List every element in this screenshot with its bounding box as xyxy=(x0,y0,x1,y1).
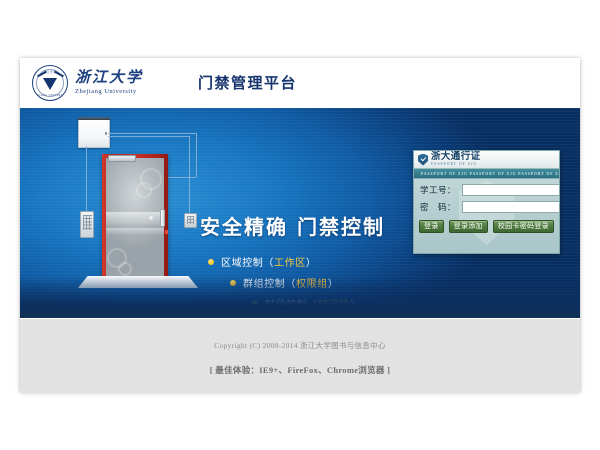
wire-controller-right-2 xyxy=(108,136,189,137)
feature-suffix: ） xyxy=(306,254,317,269)
seal-arc-bottom-text: ZHEJIANG UNIVERSITY xyxy=(32,94,68,97)
gear-decoration-4 xyxy=(118,262,132,276)
card-reader-keys xyxy=(187,216,194,224)
login-panel-title-en: PASSPORT OF ZJU xyxy=(431,163,481,167)
door-handle-icon xyxy=(160,209,165,227)
browser-support-note: [ 最佳体验：IE9+、FireFox、Chrome浏览器 ] xyxy=(20,364,580,376)
campus-card-login-button[interactable]: 校园卡密码登录 xyxy=(493,220,554,233)
door-lock-led xyxy=(165,230,168,234)
university-name-cn: 浙江大学 xyxy=(75,71,143,87)
wire-to-doorlock xyxy=(168,177,196,178)
wire-down-to-doorlock xyxy=(196,133,197,177)
copyright-text: Copyright (C) 2008-2014 浙江大学图书与信息中心 xyxy=(20,340,580,351)
form-row-userid: 学工号： xyxy=(420,184,553,196)
gear-decoration-2 xyxy=(136,182,152,198)
university-name-en: Zhejiang University xyxy=(75,88,143,95)
bullet-dot-icon xyxy=(208,259,214,265)
keypad-reader-icon xyxy=(80,211,94,238)
login-button-row: 登录 登录添加 校园卡密码登录 xyxy=(420,220,553,233)
userid-input[interactable] xyxy=(462,184,560,196)
seal-wing-left xyxy=(37,71,47,77)
banner-headline: 安全精确 门禁控制 xyxy=(200,211,385,240)
login-panel: 浙大通行证 PASSPORT OF ZJU PASSPORT OF ZJU PA… xyxy=(413,150,560,254)
login-panel-title-cn: 浙大通行证 xyxy=(431,152,481,162)
door-panel xyxy=(106,158,164,280)
university-name: 浙江大学 Zhejiang University xyxy=(75,71,143,95)
password-input[interactable] xyxy=(462,201,560,213)
login-form: 学工号： 密 码： 登录 登录添加 校园卡密码登录 xyxy=(414,179,559,233)
password-label: 密 码： xyxy=(420,201,462,213)
wire-controller-to-keypad xyxy=(86,146,87,211)
university-seal-icon: 浙江大学 ZHEJIANG UNIVERSITY xyxy=(32,65,68,101)
userid-label: 学工号： xyxy=(420,184,462,196)
door-knob-icon xyxy=(149,216,154,221)
seal-wing-right xyxy=(54,71,64,77)
door-closer-icon xyxy=(108,155,136,162)
form-row-password: 密 码： xyxy=(420,201,553,213)
card-reader-icon xyxy=(184,213,197,228)
page-root: 浙江大学 ZHEJIANG UNIVERSITY 浙江大学 Zhejiang U… xyxy=(0,0,600,450)
controller-box-icon xyxy=(78,118,110,148)
door-highlight-2 xyxy=(106,228,164,235)
shield-icon xyxy=(418,154,428,166)
login-panel-title-block: 浙大通行证 PASSPORT OF ZJU xyxy=(431,152,481,166)
login-button[interactable]: 登录 xyxy=(419,220,444,233)
passport-watermark-band: PASSPORT OF ZJU PASSPORT OF ZJU PASSPORT… xyxy=(414,169,559,179)
feature-item-area-control: 区域控制（工作区） xyxy=(208,254,458,269)
door-highlight-1 xyxy=(106,212,164,225)
feature-label: 区域控制（ xyxy=(221,254,274,269)
controller-port-dot xyxy=(105,132,108,135)
login-panel-header: 浙大通行证 PASSPORT OF ZJU xyxy=(414,151,559,169)
feature-highlight: 工作区 xyxy=(274,254,306,269)
footer-content: Copyright (C) 2008-2014 浙江大学图书与信息中心 [ 最佳… xyxy=(20,319,580,376)
university-logo[interactable]: 浙江大学 ZHEJIANG UNIVERSITY 浙江大学 Zhejiang U… xyxy=(32,65,143,101)
banner-bottom-fade xyxy=(20,276,580,318)
login-add-button[interactable]: 登录添加 xyxy=(449,220,488,233)
door-frame xyxy=(102,154,168,280)
passport-band-text: PASSPORT OF ZJU PASSPORT OF ZJU PASSPORT… xyxy=(414,172,559,176)
page-title: 门禁管理平台 xyxy=(198,72,297,93)
seal-bird-glyph xyxy=(43,78,57,90)
site-header: 浙江大学 ZHEJIANG UNIVERSITY 浙江大学 Zhejiang U… xyxy=(20,58,580,108)
hero-banner: 安全精确 门禁控制 区域控制（工作区） 群组控制（权限组） 时段控制（时间段） xyxy=(20,108,580,318)
wire-down-to-reader xyxy=(189,136,190,213)
wire-controller-right-1 xyxy=(108,133,196,134)
site-footer: Copyright (C) 2008-2014 浙江大学图书与信息中心 [ 最佳… xyxy=(20,318,580,393)
app-frame: 浙江大学 ZHEJIANG UNIVERSITY 浙江大学 Zhejiang U… xyxy=(20,58,580,392)
keypad-keys xyxy=(83,215,92,230)
